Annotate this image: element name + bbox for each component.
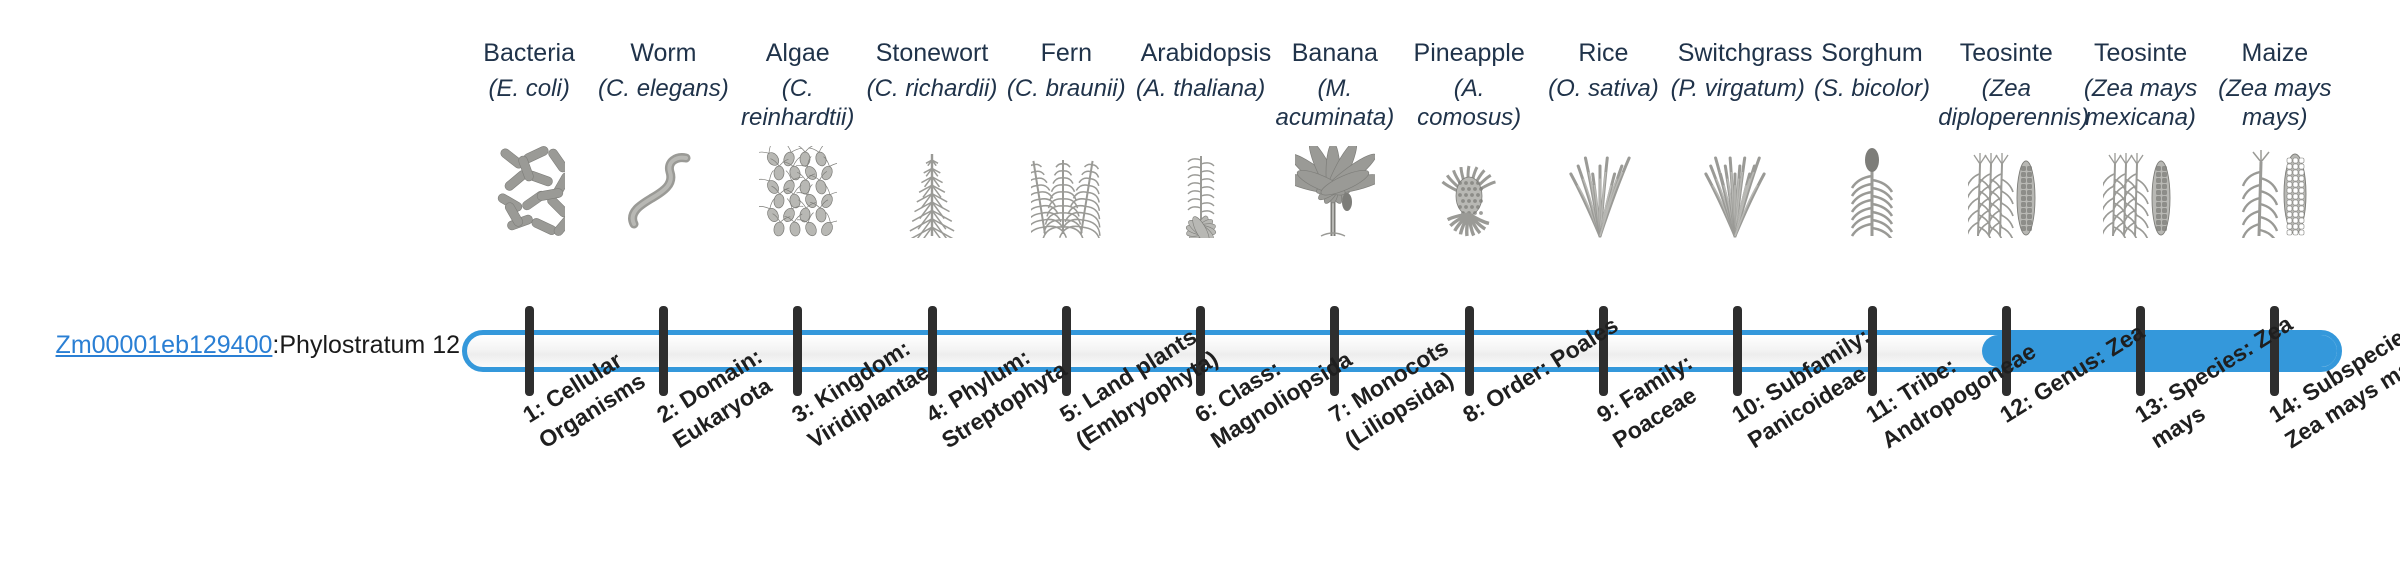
gene-phylostratum-label: Zm00001eb129400: Phylostratum 12 xyxy=(0,325,460,365)
species-column-stonewort: Stonewort(C. richardii) xyxy=(872,38,992,68)
species-latin-name: (Zea diploperennis) xyxy=(1938,74,2074,132)
species-latin-name: (S. bicolor) xyxy=(1804,74,1940,103)
rank-number: 7: xyxy=(1324,395,1355,428)
species-common-name: Banana xyxy=(1275,38,1395,68)
gene-label-separator: : xyxy=(272,331,279,360)
rank-number: 6: xyxy=(1190,395,1221,428)
rank-number: 4: xyxy=(921,395,952,428)
species-latin-name: (A. thaliana) xyxy=(1133,74,1269,103)
species-latin-name: (P. virgatum) xyxy=(1670,74,1806,103)
algae-icon xyxy=(738,146,858,246)
species-latin-name: (O. sativa) xyxy=(1535,74,1671,103)
species-common-name: Worm xyxy=(603,38,723,68)
species-common-name: Teosinte xyxy=(1946,38,2066,68)
species-common-name: Stonewort xyxy=(872,38,992,68)
teosinte-icon xyxy=(2081,146,2201,246)
maize-icon xyxy=(2215,146,2335,246)
species-common-name: Bacteria xyxy=(469,38,589,68)
species-latin-name: (A. comosus) xyxy=(1401,74,1537,132)
tick-mark-1 xyxy=(525,306,534,396)
sorghum-icon xyxy=(1812,146,1932,246)
banana-icon xyxy=(1275,146,1395,246)
rank-number: 3: xyxy=(787,395,818,428)
species-column-arabidopsis: Arabidopsis(A. thaliana) xyxy=(1141,38,1261,68)
species-latin-name: (C. richardii) xyxy=(864,74,1000,103)
species-column-algae: Algae(C. reinhardtii) xyxy=(738,38,858,68)
arabidopsis-icon xyxy=(1141,146,1261,246)
gene-id-link[interactable]: Zm00001eb129400 xyxy=(56,331,273,360)
species-column-rice: Rice(O. sativa) xyxy=(1543,38,1663,68)
species-column-fern: Fern(C. braunii) xyxy=(1006,38,1126,68)
worm-icon xyxy=(603,146,723,246)
phylostratum-value-text: Phylostratum 12 xyxy=(279,331,460,360)
species-common-name: Algae xyxy=(738,38,858,68)
species-column-switchgrass: Switchgrass(P. virgatum) xyxy=(1678,38,1798,68)
rank-number: 1: xyxy=(518,395,549,428)
species-common-name: Arabidopsis xyxy=(1141,38,1261,68)
species-latin-name: (C. braunii) xyxy=(998,74,1134,103)
species-common-name: Sorghum xyxy=(1812,38,1932,68)
fern-icon xyxy=(1006,146,1126,246)
species-common-name: Fern xyxy=(1006,38,1126,68)
species-column-teosinte: Teosinte(Zea diploperennis) xyxy=(1946,38,2066,68)
species-common-name: Maize xyxy=(2215,38,2335,68)
stonewort-icon xyxy=(872,146,992,246)
species-column-pineapple: Pineapple(A. comosus); ; ; ; ; ; ; ; ; ;… xyxy=(1409,38,1529,68)
species-column-banana: Banana(M. acuminata) xyxy=(1275,38,1395,68)
species-latin-name: (E. coli) xyxy=(461,74,597,103)
species-latin-name: (M. acuminata) xyxy=(1267,74,1403,132)
bacteria-icon xyxy=(469,146,589,246)
species-common-name: Rice xyxy=(1543,38,1663,68)
species-latin-name: (Zea mays mays) xyxy=(2207,74,2343,132)
species-common-name: Teosinte xyxy=(2081,38,2201,68)
switchgrass-icon xyxy=(1678,146,1798,246)
species-column-teosinte: Teosinte(Zea mays mexicana) xyxy=(2081,38,2201,68)
species-latin-name: (C. reinhardtii) xyxy=(730,74,866,132)
species-common-name: Switchgrass xyxy=(1678,38,1798,68)
species-column-maize: Maize(Zea mays mays) xyxy=(2215,38,2335,68)
rank-number: 8: xyxy=(1458,395,1489,428)
species-column-sorghum: Sorghum(S. bicolor) xyxy=(1812,38,1932,68)
pineapple-icon: ; ; ; ; ; ; ; ; ; ; ; ; ; ; ; ; ; ; ; ; … xyxy=(1409,146,1529,246)
rice-icon xyxy=(1543,146,1663,246)
phylostratum-timeline: Zm00001eb129400: Phylostratum 12 Bacteri… xyxy=(0,0,2400,580)
species-latin-name: (C. elegans) xyxy=(595,74,731,103)
species-latin-name: (Zea mays mexicana) xyxy=(2073,74,2209,132)
species-common-name: Pineapple xyxy=(1409,38,1529,68)
species-column-bacteria: Bacteria(E. coli) xyxy=(469,38,589,68)
teosinte-icon xyxy=(1946,146,2066,246)
species-column-worm: Worm(C. elegans) xyxy=(603,38,723,68)
